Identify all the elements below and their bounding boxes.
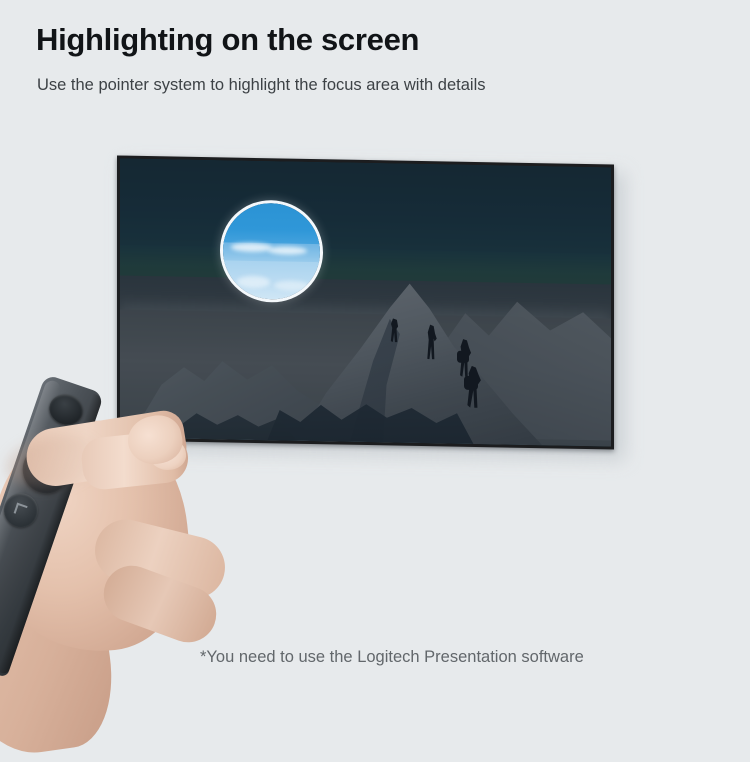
page-title: Highlighting on the screen — [36, 22, 419, 58]
hand-holding-remote — [0, 378, 250, 758]
page-subtitle: Use the pointer system to highlight the … — [37, 76, 486, 95]
spotlight-sky — [223, 202, 320, 248]
page-root: Highlighting on the screen Use the point… — [0, 0, 750, 750]
spotlight-highlight-circle[interactable] — [220, 199, 323, 303]
footnote-text: *You need to use the Logitech Presentati… — [200, 648, 584, 667]
bracket-corner-icon — [14, 503, 28, 517]
cloud-wisp — [237, 276, 270, 288]
